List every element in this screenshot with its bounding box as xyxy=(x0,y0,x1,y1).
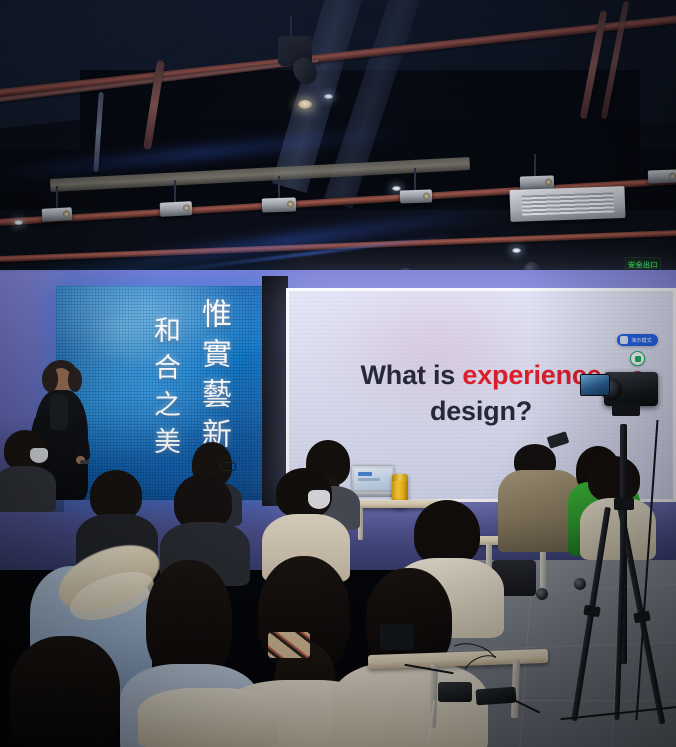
exit-sign-label: 安全出口 xyxy=(628,260,658,270)
hair xyxy=(90,470,142,520)
camera-tripod[interactable] xyxy=(576,398,676,728)
glasses xyxy=(220,462,236,471)
projector-mount xyxy=(174,180,176,202)
laptop xyxy=(352,466,394,498)
face-mask xyxy=(308,490,330,509)
projector-lens-icon xyxy=(63,210,70,217)
monitor-back xyxy=(380,624,414,650)
lecture-hall-photo: 安全出口 惟實藝新 和合之美 What is experience design… xyxy=(0,0,676,747)
thermos-cap xyxy=(392,474,408,481)
audience-member xyxy=(0,636,132,747)
ceiling-area: 安全出口 xyxy=(0,0,676,288)
spotlight-lens-icon xyxy=(298,100,312,109)
cream-fleece-coat xyxy=(138,688,278,747)
hvac-grille xyxy=(521,192,614,216)
projector-lens-icon xyxy=(423,193,430,200)
ceiling-projector xyxy=(262,197,296,212)
ceiling-projector xyxy=(648,169,676,183)
camcorder[interactable] xyxy=(604,372,658,406)
projector-lens-icon xyxy=(287,200,294,207)
hair xyxy=(414,500,480,566)
laptop-screen-content xyxy=(358,472,372,476)
presenter-hair xyxy=(42,366,58,392)
projector-mount xyxy=(414,168,416,190)
projector-mount xyxy=(56,186,58,208)
projector-lens-icon xyxy=(545,178,552,185)
plaid-scarf xyxy=(268,632,310,658)
camcorder-mount xyxy=(612,404,640,416)
audience-member xyxy=(138,688,278,747)
presentation-clicker xyxy=(80,460,89,464)
face-mask xyxy=(30,448,48,463)
downlight xyxy=(512,248,521,253)
camcorder-lcd xyxy=(580,374,610,396)
ceiling-projector xyxy=(42,207,73,222)
body xyxy=(0,466,56,512)
projector-mount xyxy=(534,154,536,176)
hvac-diffuser xyxy=(509,186,625,222)
audience-member xyxy=(0,430,54,502)
ceiling-projector xyxy=(160,201,193,217)
projector-lens-icon xyxy=(669,173,676,180)
hair xyxy=(10,636,120,747)
calligraphy-column-right: 惟實藝新 xyxy=(191,298,235,458)
ceiling-projector xyxy=(400,189,432,203)
downlight xyxy=(392,186,401,191)
projector-lens-icon xyxy=(183,204,190,211)
presenter-scarf xyxy=(50,394,68,430)
downlight xyxy=(324,94,333,99)
audience-member xyxy=(166,474,244,574)
tripod-clamp xyxy=(614,498,634,510)
spotlight-rod xyxy=(290,16,292,38)
laptop-screen-content xyxy=(358,478,380,481)
vest-logo xyxy=(514,502,560,508)
presenter-hair xyxy=(68,368,82,392)
desk-caster xyxy=(536,588,548,600)
projector-mount xyxy=(278,176,280,198)
camcorder-lcd-screen xyxy=(581,375,609,395)
tripod-clamp xyxy=(583,605,600,617)
hair xyxy=(146,560,232,680)
downlight xyxy=(14,220,23,225)
calligraphy-column-left: 和合之美 xyxy=(146,316,185,464)
